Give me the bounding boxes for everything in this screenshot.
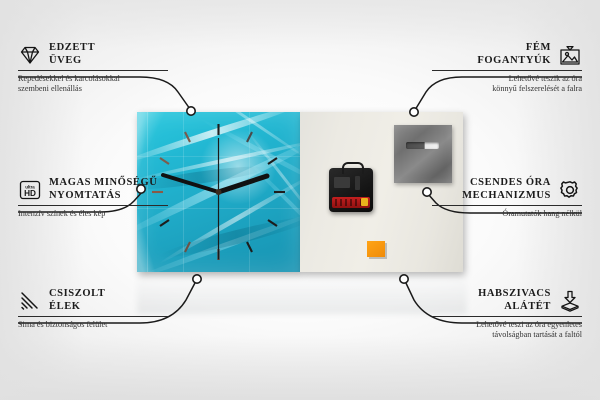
callout-head: HABSZIVACS ALÁTÉT [432, 288, 582, 313]
callout-desc-2: könnyű felszerelését a falra [432, 84, 582, 95]
mechanism-loop [342, 162, 364, 174]
divider [18, 205, 168, 206]
callout-foam-pad[interactable]: HABSZIVACS ALÁTÉT Lehetővé teszi az óra … [432, 288, 582, 341]
callout-head: CSISZOLT ÉLEK [18, 288, 168, 313]
callout-head: ultra HD MAGAS MINŐSÉGŰ NYOMTATÁS [18, 177, 168, 202]
foam-pad-arrow-icon [558, 290, 582, 312]
callout-head: FÉM FOGANTYÚK [432, 42, 582, 67]
product-reflection [137, 272, 467, 314]
callout-tempered-glass[interactable]: EDZETT ÜVEG Repedésekkel és karcolásokka… [18, 42, 168, 95]
infographic-canvas: EDZETT ÜVEG Repedésekkel és karcolásokka… [0, 0, 600, 400]
metal-hanger [394, 125, 452, 183]
callout-title: MAGAS MINŐSÉGŰ NYOMTATÁS [49, 177, 157, 202]
hanger-slot [406, 142, 439, 149]
callout-metal-handles[interactable]: FÉM FOGANTYÚK Lehetővé teszik az óra kön… [432, 42, 582, 95]
callout-silent-mechanism[interactable]: CSENDES ÓRA MECHANIZMUS Óramutatók hang … [432, 177, 582, 219]
callout-head: CSENDES ÓRA MECHANIZMUS [432, 177, 582, 202]
clock-mechanism [329, 168, 373, 212]
callout-title: EDZETT ÜVEG [49, 42, 95, 67]
polished-edges-icon [18, 290, 42, 312]
callout-title: CSISZOLT ÉLEK [49, 288, 105, 313]
picture-hanger-icon [558, 44, 582, 66]
gear-icon [558, 179, 582, 201]
callout-polished-edges[interactable]: CSISZOLT ÉLEK Sima és biztonságos felüle… [18, 288, 168, 330]
callout-desc-1: Óramutatók hang nélkül [432, 209, 582, 220]
divider [18, 70, 168, 71]
mechanism-slot-2 [355, 176, 360, 190]
callout-desc-2: távolságban tartását a faltól [432, 330, 582, 341]
mechanism-slot-1 [334, 177, 350, 188]
battery [332, 197, 370, 208]
battery-terminal [361, 198, 368, 206]
callout-head: EDZETT ÜVEG [18, 42, 168, 67]
callout-title: CSENDES ÓRA MECHANIZMUS [462, 177, 551, 202]
diamond-icon [18, 44, 42, 66]
divider [18, 316, 168, 317]
callout-desc-1: Sima és biztonságos felület [18, 320, 168, 331]
foam-pad [367, 241, 385, 257]
callout-high-quality-print[interactable]: ultra HD MAGAS MINŐSÉGŰ NYOMTATÁS Intenz… [18, 177, 168, 219]
svg-text:HD: HD [24, 189, 36, 198]
product-image [137, 112, 463, 272]
ultra-hd-icon: ultra HD [18, 179, 42, 201]
divider [432, 205, 582, 206]
clock-hands [163, 138, 267, 259]
callout-title: FÉM FOGANTYÚK [477, 42, 551, 67]
divider [432, 316, 582, 317]
callout-title: HABSZIVACS ALÁTÉT [478, 288, 551, 313]
callout-desc-2: szembeni ellenállás [18, 84, 168, 95]
callout-desc-1: Repedésekkel és karcolásokkal [18, 74, 168, 85]
callout-desc-1: Lehetővé teszi az óra egyenletes [432, 320, 582, 331]
callout-desc-1: Lehetővé teszik az óra [432, 74, 582, 85]
divider [432, 70, 582, 71]
callout-desc-1: Intenzív színek és éles kép [18, 209, 168, 220]
